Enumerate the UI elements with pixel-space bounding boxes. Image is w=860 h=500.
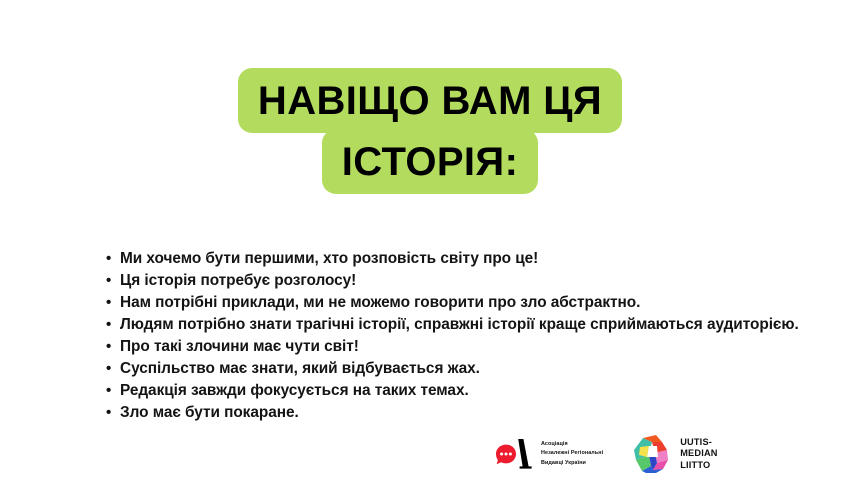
colorful-polygon-icon bbox=[631, 433, 673, 475]
list-item: Ця історія потребує розголосу! bbox=[104, 270, 804, 292]
anru-logo-text-line-1: Асоціація bbox=[541, 440, 603, 449]
uutis-logo-text: UUTIS- MEDIAN LIITTO bbox=[680, 437, 717, 471]
title-line-2: ІСТОРІЯ: bbox=[0, 129, 860, 194]
list-item: Про такі злочини має чути світ! bbox=[104, 336, 804, 358]
uutis-logo-text-line-2: MEDIAN bbox=[680, 448, 717, 459]
list-item: Ми хочемо бути першими, хто розповість с… bbox=[104, 248, 804, 270]
list-item: Нам потрібні приклади, ми не можемо гово… bbox=[104, 292, 804, 314]
title-line-1-highlight: НАВІЩО ВАМ ЦЯ bbox=[238, 68, 622, 133]
list-item: Зло має бути покаране. bbox=[104, 402, 804, 424]
list-item: Людям потрібно знати трагічні історії, с… bbox=[104, 314, 804, 336]
speech-bubble-and-a-icon bbox=[494, 436, 534, 472]
anru-logo: Асоціація Незалежні Регіональні Видавці … bbox=[494, 436, 603, 472]
title-line-1: НАВІЩО ВАМ ЦЯ bbox=[0, 68, 860, 133]
uutis-logo-text-line-1: UUTIS- bbox=[680, 437, 717, 448]
footer-logos: Асоціація Незалежні Регіональні Видавці … bbox=[494, 428, 754, 480]
list-item: Редакція завжди фокусується на таких тем… bbox=[104, 380, 804, 402]
title-line-2-highlight: ІСТОРІЯ: bbox=[322, 129, 539, 194]
uutis-logo-text-line-3: LIITTO bbox=[680, 460, 717, 471]
slide-root: НАВІЩО ВАМ ЦЯ ІСТОРІЯ: Ми хочемо бути пе… bbox=[0, 0, 860, 500]
list-item: Суспільство має знати, який відбувається… bbox=[104, 358, 804, 380]
anru-logo-text: Асоціація Незалежні Регіональні Видавці … bbox=[541, 440, 603, 468]
page-title: НАВІЩО ВАМ ЦЯ ІСТОРІЯ: bbox=[0, 68, 860, 194]
anru-logo-text-line-2: Незалежні Регіональні bbox=[541, 449, 603, 458]
uutis-median-liitto-logo: UUTIS- MEDIAN LIITTO bbox=[631, 433, 717, 475]
bullet-list: Ми хочемо бути першими, хто розповість с… bbox=[104, 248, 804, 424]
anru-logo-mark bbox=[494, 436, 534, 472]
anru-logo-text-line-3: Видавці України bbox=[541, 459, 603, 468]
uutis-logo-mark bbox=[631, 433, 673, 475]
